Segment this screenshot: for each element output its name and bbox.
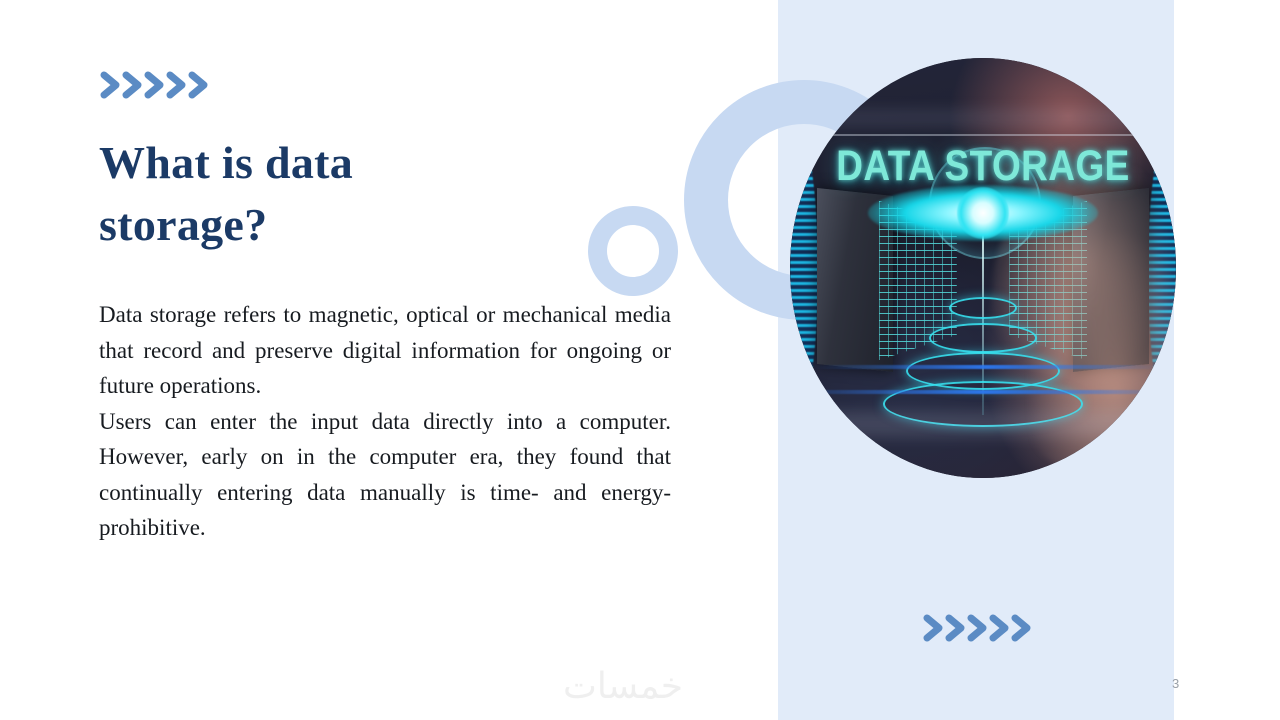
watermark: خمسات — [533, 666, 713, 707]
page-title: What is data storage? — [99, 132, 529, 256]
chevrons-right-icon-top — [99, 68, 209, 102]
ring-small-decoration — [588, 206, 678, 296]
photo-ripple-1 — [949, 297, 1017, 319]
photo-beam-2 — [790, 390, 1176, 394]
photo-overlay-title: DATA STORAGE — [817, 142, 1149, 191]
body-copy: Data storage refers to magnetic, optical… — [99, 297, 671, 546]
page-number: 3 — [1172, 676, 1179, 691]
body-paragraph-2: Users can enter the input data directly … — [99, 404, 671, 546]
photo-orb-core — [957, 187, 1009, 239]
photo-beam-1 — [813, 365, 1160, 369]
body-paragraph-1: Data storage refers to magnetic, optical… — [99, 297, 671, 404]
photo-haze-band-lower — [790, 411, 1176, 437]
chevrons-right-icon-bottom — [922, 611, 1032, 645]
page-title-line-1: What is data — [99, 132, 529, 194]
slide-canvas: What is data storage? Data storage refer… — [0, 0, 1280, 720]
photo-ripple-2 — [929, 323, 1037, 353]
page-title-line-2: storage? — [99, 194, 529, 256]
photo-light-line — [790, 134, 1176, 136]
photo-haze-band-upper — [790, 108, 1176, 128]
data-storage-photo: DATA STORAGE — [790, 58, 1176, 478]
